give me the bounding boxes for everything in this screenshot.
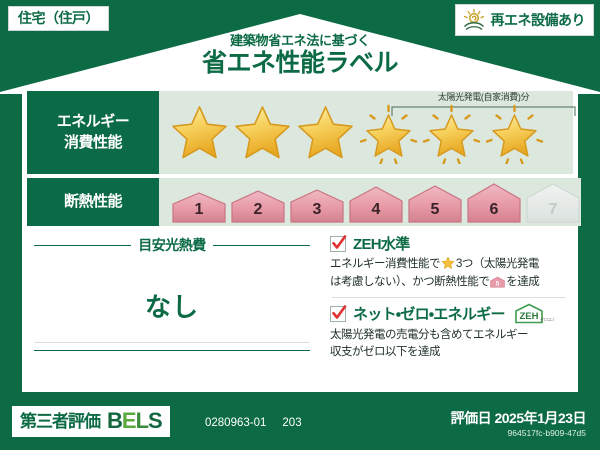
insulation-performance-row: 断熱性能 <box>27 178 573 226</box>
nze-desc-line1: 太陽光発電の売電分も含めてエネルギー <box>330 329 528 341</box>
energy-performance-label: 住宅（住戸） 再エネ設備あり 建築物省エネ <box>0 0 600 450</box>
insulation-level-2: 2 <box>230 185 286 223</box>
check-icon <box>330 304 348 322</box>
utility-cost-value: なし <box>34 287 310 324</box>
svg-text:ゼロエネ: ゼロエネ <box>540 316 554 322</box>
insulation-level-5: 5 <box>407 183 463 223</box>
criterion-nze-title: ネット・ゼロ・エネルギー <box>353 303 505 324</box>
insulation-level-3-number: 3 <box>289 202 345 218</box>
lower-section: 目安光熱費 なし ZEH水準 <box>22 229 578 387</box>
check-icon <box>330 234 348 252</box>
footer-bar: 第三者評価 BELS 0280963-01203 評価日 2025年1月23日 … <box>0 398 600 450</box>
svg-text:ZEH: ZEH <box>519 311 538 322</box>
insulation-level-4: 4 <box>348 183 404 223</box>
bels-logo-box: 第三者評価 BELS <box>12 406 170 437</box>
energy-performance-row: エネルギー 消費性能 太陽光発電(自家消費)分 <box>27 91 573 174</box>
energy-stars-area: 太陽光発電(自家消費)分 <box>159 91 573 174</box>
criterion-zeh-title: ZEH水準 <box>353 233 410 254</box>
svg-text:5: 5 <box>496 280 500 287</box>
bels-letter-e: E <box>122 408 136 433</box>
insulation-level-5-number: 5 <box>407 202 463 218</box>
nze-desc-line2: 収支がゼロ以下を達成 <box>330 346 440 358</box>
insulation-level-6: 6 <box>466 182 522 223</box>
evaluation-date: 評価日 2025年1月23日 <box>451 408 586 428</box>
criterion-zeh-standard: ZEH水準 エネルギー消費性能で3つ（太陽光発電 は考慮しない）、かつ断熱性能で… <box>330 233 568 292</box>
insulation-levels-area: 1 2 3 <box>159 178 581 226</box>
evaluation-date-label: 評価日 <box>451 410 492 426</box>
star-filled-3 <box>295 102 356 164</box>
utility-cost-title: 目安光熱費 <box>138 235 206 255</box>
criteria-divider <box>332 297 566 298</box>
star-solar-6 <box>484 102 545 164</box>
evaluation-date-value: 2025年1月23日 <box>494 410 586 426</box>
utility-cost-panel: 目安光熱費 なし <box>22 229 322 387</box>
checkbox-zeh-standard <box>330 236 346 252</box>
zeh-desc-part3: を達成 <box>506 276 539 288</box>
insulation-level-1-number: 1 <box>171 202 227 218</box>
insulation-level-1: 1 <box>171 185 227 223</box>
zeh-house-logo-icon: ZEH ゼロエネ <box>514 303 554 325</box>
criteria-panel: ZEH水準 エネルギー消費性能で3つ（太陽光発電 は考慮しない）、かつ断熱性能で… <box>322 229 578 387</box>
insulation-performance-label-cell: 断熱性能 <box>27 178 159 226</box>
mini-star-icon <box>441 256 455 270</box>
divider-faint <box>34 342 310 343</box>
criterion-nze-description: 太陽光発電の売電分も含めてエネルギー 収支がゼロ以下を達成 <box>330 327 568 363</box>
bels-letter-b: B <box>107 408 122 433</box>
bels-letter-l: L <box>136 408 148 433</box>
insulation-level-6-number: 6 <box>466 202 522 218</box>
insulation-level-7-number: 7 <box>525 202 581 218</box>
zeh-desc-stars: 3つ（太陽光発電 <box>456 258 539 270</box>
criterion-nze-header: ネット・ゼロ・エネルギー ZEH ゼロエネ <box>330 303 568 325</box>
star-solar-5 <box>421 102 482 164</box>
divider-solid <box>34 350 310 351</box>
utility-cost-header: 目安光熱費 <box>34 235 310 255</box>
mini-house-icon: 5 <box>490 276 505 288</box>
star-filled-1 <box>169 102 230 164</box>
certificate-number: 0280963-01 <box>205 417 266 429</box>
energy-label-line2: 消費性能 <box>57 133 130 153</box>
unit-number: 203 <box>282 417 301 429</box>
energy-label-line1: エネルギー <box>57 112 130 132</box>
criterion-zeh-description: エネルギー消費性能で3つ（太陽光発電 は考慮しない）、かつ断熱性能で5を達成 <box>330 256 568 292</box>
star-solar-4 <box>358 102 419 164</box>
criterion-net-zero-energy: ネット・ゼロ・エネルギー ZEH ゼロエネ 太陽光発電の売電分も含めてエネルギー… <box>330 303 568 363</box>
insulation-level-7: 7 <box>525 182 581 223</box>
insulation-level-3: 3 <box>289 185 345 223</box>
roof-shape <box>0 14 600 92</box>
checkbox-net-zero-energy <box>330 306 346 322</box>
zeh-desc-part1: エネルギー消費性能で <box>330 258 440 270</box>
label-body-panel: エネルギー 消費性能 太陽光発電(自家消費)分 <box>22 86 578 392</box>
bels-logo: BELS <box>107 410 162 432</box>
energy-performance-label-cell: エネルギー 消費性能 <box>27 91 159 174</box>
insulation-level-2-number: 2 <box>230 202 286 218</box>
rule-right <box>213 245 310 246</box>
energy-star-rating <box>159 102 545 164</box>
certificate-number-group: 0280963-01203 <box>205 417 302 429</box>
zeh-desc-part2: は考慮しない）、かつ断熱性能で <box>330 276 489 288</box>
star-filled-2 <box>232 102 293 164</box>
insulation-level-4-number: 4 <box>348 202 404 218</box>
third-party-evaluation-label: 第三者評価 <box>20 413 100 430</box>
rule-left <box>34 245 131 246</box>
bels-letter-s: S <box>148 408 162 433</box>
insulation-level-scale: 1 2 3 <box>159 182 581 223</box>
document-hash: 964517fc-b909-47d5 <box>508 428 586 438</box>
criterion-zeh-header: ZEH水準 <box>330 233 568 254</box>
